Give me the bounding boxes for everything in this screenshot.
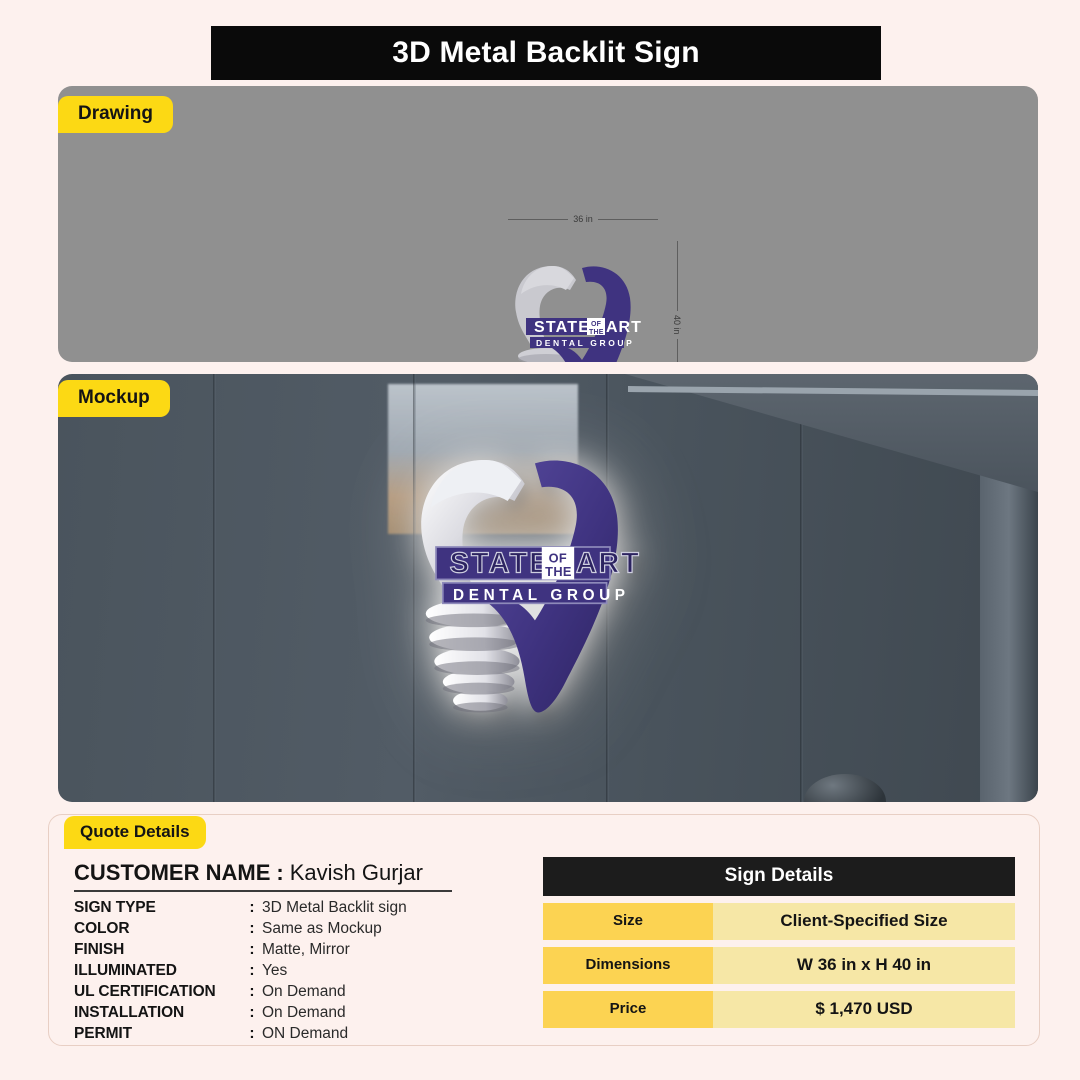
spec-colon: :: [242, 1004, 262, 1022]
table-cell-value: Client-Specified Size: [713, 903, 1015, 940]
dimension-line-top: [677, 241, 678, 311]
table-cell-key: Size: [543, 903, 713, 940]
spec-colon: :: [242, 1025, 262, 1043]
table-row: Price $ 1,470 USD: [543, 991, 1015, 1028]
spec-row: FINISH : Matte, Mirror: [74, 941, 494, 962]
svg-text:STATE: STATE: [450, 548, 551, 580]
specification-list: SIGN TYPE : 3D Metal Backlit sign COLOR …: [74, 899, 494, 1046]
dental-implant-logo-icon: STATE OF THE OF THE ART DENTAL GROUP: [490, 244, 660, 362]
spec-colon: :: [242, 962, 262, 980]
quote-details-tab[interactable]: Quote Details: [64, 816, 206, 849]
spec-row: SIGN TYPE : 3D Metal Backlit sign: [74, 899, 494, 920]
wall-seam: [800, 374, 803, 802]
quote-sheet: 3D Metal Backlit Sign 36 in 40 in: [0, 0, 1080, 1080]
dimension-width-label: 36 in: [573, 214, 593, 224]
svg-text:THE: THE: [589, 329, 604, 336]
table-row: Dimensions W 36 in x H 40 in: [543, 947, 1015, 984]
spec-key: INSTALLATION: [74, 1004, 242, 1022]
dimension-height: 40 in: [670, 241, 684, 362]
floor-object: [804, 774, 886, 802]
spec-colon: :: [242, 941, 262, 959]
spec-key: FINISH: [74, 941, 242, 959]
spec-row: PERMIT : ON Demand: [74, 1025, 494, 1046]
spec-row: ILLUMINATED : Yes: [74, 962, 494, 983]
page-title: 3D Metal Backlit Sign: [392, 36, 700, 70]
spec-row: COLOR : Same as Mockup: [74, 920, 494, 941]
dimension-line-right: [598, 219, 658, 220]
spec-colon: :: [242, 983, 262, 1001]
svg-text:THE: THE: [545, 564, 572, 579]
spec-row: UL CERTIFICATION : On Demand: [74, 983, 494, 1004]
customer-name-value: Kavish Gurjar: [290, 860, 423, 886]
wall-seam: [213, 374, 216, 802]
table-cell-key: Dimensions: [543, 947, 713, 984]
table-row: Size Client-Specified Size: [543, 903, 1015, 940]
dimension-line-bottom: [677, 339, 678, 362]
drawing-section-tab[interactable]: Drawing: [58, 96, 173, 133]
spec-key: SIGN TYPE: [74, 899, 242, 917]
spec-value: Same as Mockup: [262, 920, 382, 938]
drawing-panel: 36 in 40 in: [58, 86, 1038, 362]
spec-colon: :: [242, 899, 262, 917]
sign-details-table: Sign Details Size Client-Specified Size …: [543, 857, 1015, 1028]
customer-name-label: CUSTOMER NAME: [74, 860, 270, 886]
spec-key: COLOR: [74, 920, 242, 938]
spec-value: Matte, Mirror: [262, 941, 350, 959]
dimension-height-label: 40 in: [672, 311, 682, 339]
spec-value: On Demand: [262, 983, 346, 1001]
table-cell-key: Price: [543, 991, 713, 1028]
customer-name-row: CUSTOMER NAME : Kavish Gurjar: [74, 860, 452, 892]
spec-value: Yes: [262, 962, 287, 980]
spec-key: ILLUMINATED: [74, 962, 242, 980]
spec-value: ON Demand: [262, 1025, 348, 1043]
logo-drawing: STATE OF THE OF THE ART DENTAL GROUP: [490, 244, 660, 362]
svg-text:ART: ART: [576, 548, 641, 580]
spec-value: 3D Metal Backlit sign: [262, 899, 407, 917]
svg-text:OF: OF: [591, 321, 602, 328]
spec-colon: :: [242, 920, 262, 938]
svg-text:DENTAL GROUP: DENTAL GROUP: [453, 587, 630, 604]
sign-details-heading: Sign Details: [543, 857, 1015, 896]
logo-art-text: ART: [606, 319, 642, 336]
logo-state-text: STATE: [534, 319, 590, 336]
dental-implant-sign-icon: STATE OF THE ART DENTAL GROUP: [378, 396, 668, 756]
spec-value: On Demand: [262, 1004, 346, 1022]
spec-key: UL CERTIFICATION: [74, 983, 242, 1001]
spec-key: PERMIT: [74, 1025, 242, 1043]
logo-mockup: STATE OF THE ART DENTAL GROUP: [378, 396, 668, 756]
dimension-width: 36 in: [508, 214, 658, 224]
page-title-bar: 3D Metal Backlit Sign: [211, 26, 881, 80]
spec-row: INSTALLATION : On Demand: [74, 1004, 494, 1025]
logo-dental-group-text: DENTAL GROUP: [536, 338, 634, 348]
dimension-line-left: [508, 219, 568, 220]
table-cell-value: W 36 in x H 40 in: [713, 947, 1015, 984]
mockup-section-tab[interactable]: Mockup: [58, 380, 170, 417]
table-cell-value: $ 1,470 USD: [713, 991, 1015, 1028]
customer-name-colon: :: [276, 860, 283, 886]
